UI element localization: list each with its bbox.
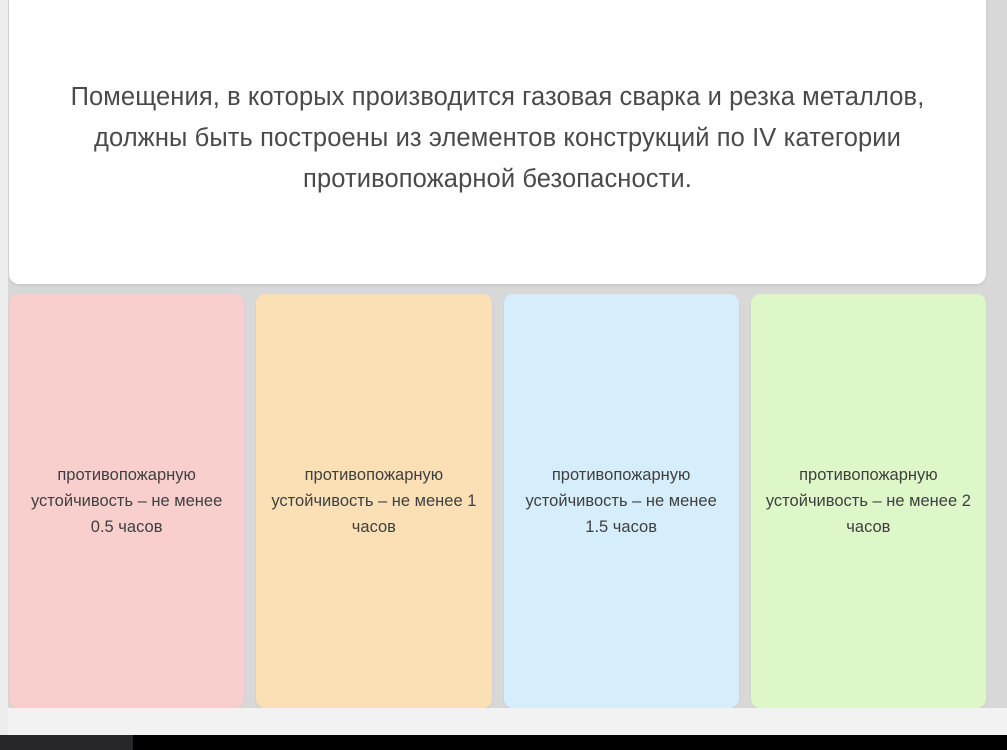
- bottom-spacer-bar: [0, 708, 1007, 735]
- answer-option-1-label: противопожарную устойчивость – не менее …: [23, 462, 230, 540]
- question-card: Помещения, в которых производится газова…: [9, 0, 986, 284]
- answer-options-row: противопожарную устойчивость – не менее …: [9, 294, 986, 708]
- taskbar: [0, 735, 1007, 750]
- taskbar-left-segment: [0, 735, 133, 750]
- answer-option-2-label: противопожарную устойчивость – не менее …: [270, 462, 477, 540]
- question-text: Помещения, в которых производится газова…: [33, 77, 963, 200]
- answer-option-1[interactable]: противопожарную устойчивость – не менее …: [9, 294, 244, 708]
- app-screen: Помещения, в которых производится газова…: [0, 0, 1007, 735]
- answer-option-3[interactable]: противопожарную устойчивость – не менее …: [504, 294, 739, 708]
- left-edge-strip: [0, 0, 8, 735]
- answer-option-4[interactable]: противопожарную устойчивость – не менее …: [751, 294, 986, 708]
- answer-option-2[interactable]: противопожарную устойчивость – не менее …: [256, 294, 491, 708]
- answer-option-3-label: противопожарную устойчивость – не менее …: [518, 462, 725, 540]
- answer-option-4-label: противопожарную устойчивость – не менее …: [765, 462, 972, 540]
